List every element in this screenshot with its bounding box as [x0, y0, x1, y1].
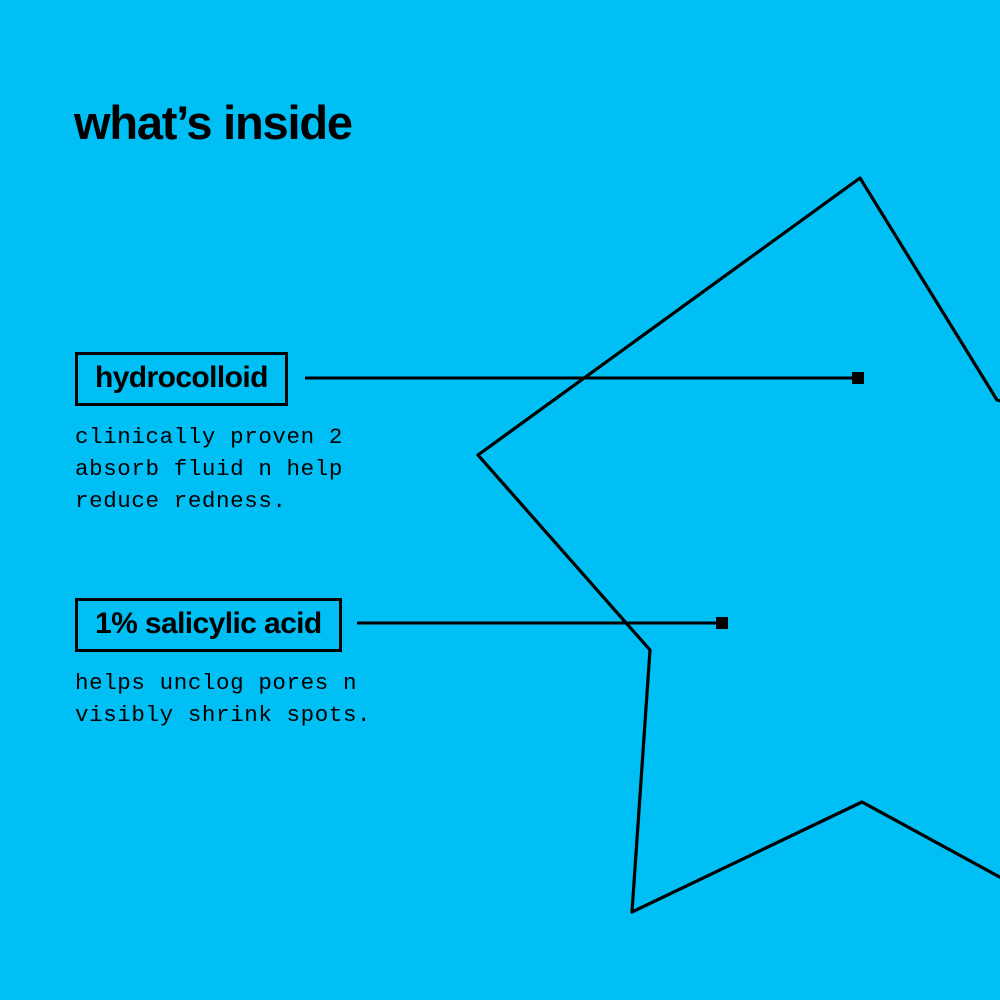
ingredient-block-hydrocolloid: hydrocolloid clinically proven 2 absorb …: [75, 352, 343, 517]
ingredient-label-box: hydrocolloid: [75, 352, 288, 406]
ingredient-label: hydrocolloid: [95, 361, 268, 394]
ingredient-block-salicylic-acid: 1% salicylic acid helps unclog pores n v…: [75, 598, 371, 731]
ingredient-label-box: 1% salicylic acid: [75, 598, 342, 652]
ingredient-label: 1% salicylic acid: [95, 607, 322, 640]
ingredient-description: clinically proven 2 absorb fluid n help …: [75, 421, 343, 517]
page-title: what’s inside: [74, 97, 352, 149]
ingredient-description: helps unclog pores n visibly shrink spot…: [75, 667, 371, 731]
poster-canvas: what’s inside hydrocolloid clinically pr…: [0, 0, 1000, 1000]
content-layer: what’s inside hydrocolloid clinically pr…: [0, 0, 1000, 1000]
